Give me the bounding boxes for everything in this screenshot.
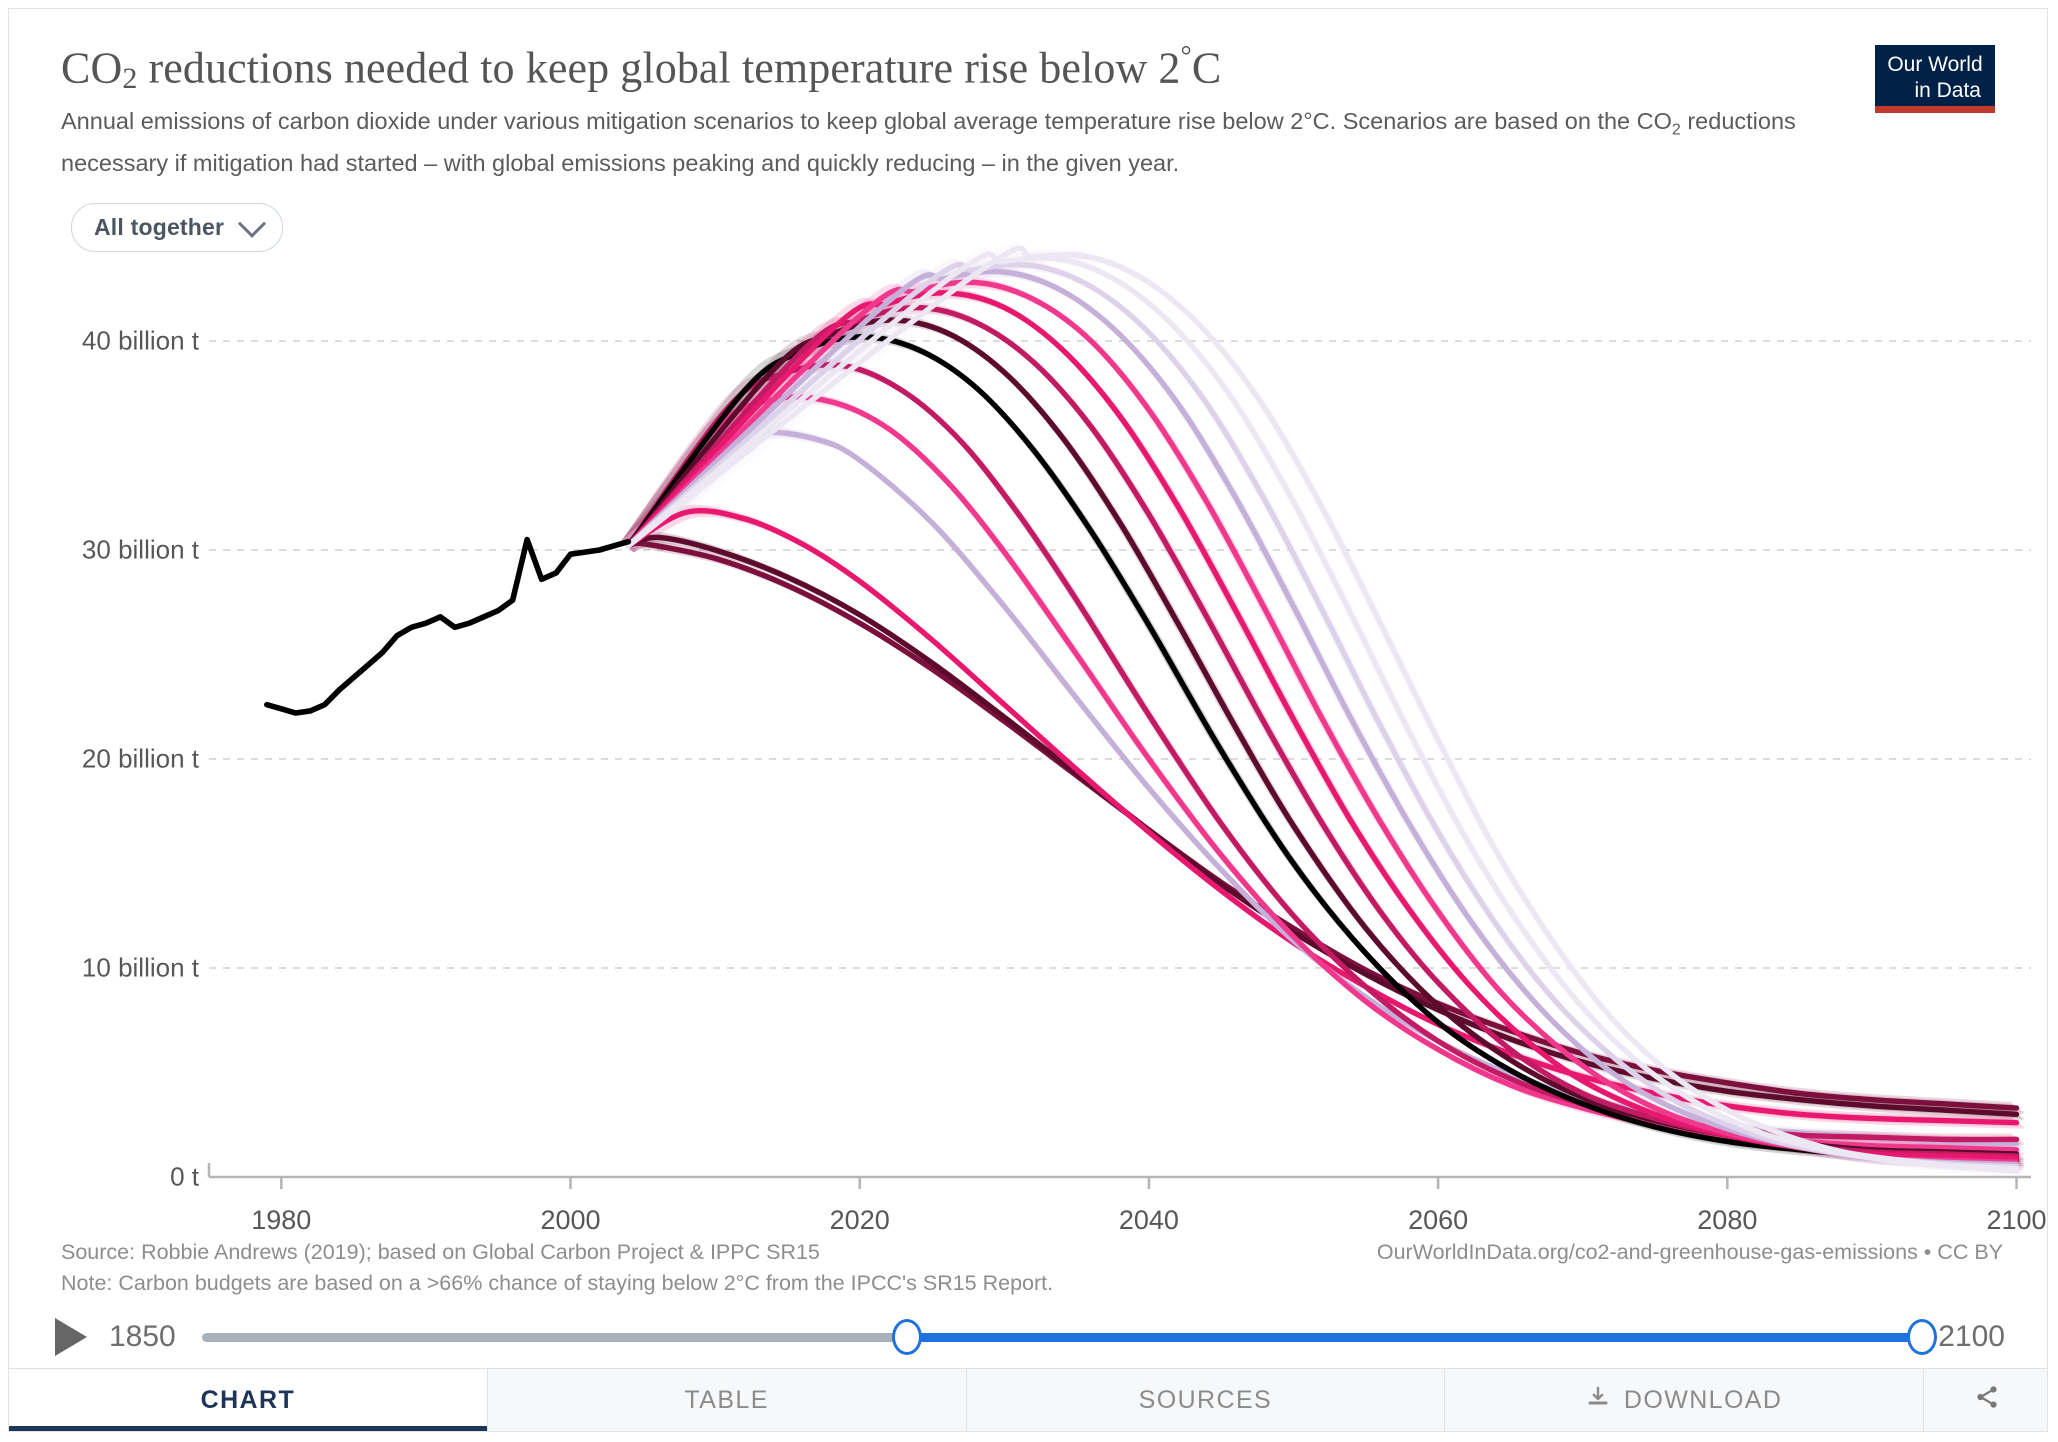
title-degree-symbol: ° xyxy=(1181,41,1192,72)
time-slider: 1850 2100 xyxy=(9,1305,2048,1369)
chart-card: CO2 reductions needed to keep global tem… xyxy=(8,8,2048,1432)
x-axis-tick-label: 2080 xyxy=(1697,1205,1757,1236)
tab-share[interactable] xyxy=(1924,1369,2048,1431)
source-line: Source: Robbie Andrews (2019); based on … xyxy=(61,1237,1053,1268)
scenario-line xyxy=(628,248,2016,1170)
x-axis-tick-label: 2040 xyxy=(1119,1205,1179,1236)
scenario-line xyxy=(628,271,2016,1164)
y-axis-tick-label: 10 billion t xyxy=(82,953,199,984)
tab-sources[interactable]: SOURCES xyxy=(967,1369,1446,1431)
y-axis-tick-label: 40 billion t xyxy=(82,326,199,357)
tab-label: SOURCES xyxy=(1139,1386,1272,1415)
chart-source-note: Source: Robbie Andrews (2019); based on … xyxy=(61,1237,1053,1299)
chart-tab-bar: CHARTTABLESOURCESDOWNLOAD xyxy=(9,1368,2048,1431)
scenario-line xyxy=(628,282,2016,1162)
x-axis-tick-label: 1980 xyxy=(251,1205,311,1236)
play-icon[interactable] xyxy=(55,1318,87,1356)
title-subscript: 2 xyxy=(122,62,137,95)
owid-logo[interactable]: Our World in Data xyxy=(1875,45,1995,113)
y-axis-tick-label: 30 billion t xyxy=(82,535,199,566)
title-text-pre: CO xyxy=(61,44,122,93)
entity-selector-label: All together xyxy=(94,214,224,241)
x-axis-tick-label: 2020 xyxy=(830,1205,890,1236)
x-axis-tick-label: 2060 xyxy=(1408,1205,1468,1236)
slider-fill xyxy=(907,1333,1922,1342)
scenario-line xyxy=(628,293,2016,1158)
scenario-line xyxy=(628,543,2016,1108)
scenario-line xyxy=(628,365,2016,1140)
chart-attribution: OurWorldInData.org/co2-and-greenhouse-ga… xyxy=(1377,1237,2003,1268)
tab-chart[interactable]: CHART xyxy=(9,1369,488,1431)
download-icon xyxy=(1586,1385,1610,1416)
slider-handle-start[interactable] xyxy=(892,1319,922,1355)
scenario-line xyxy=(628,511,2016,1123)
tab-label: DOWNLOAD xyxy=(1624,1386,1782,1415)
scenario-line xyxy=(628,265,2016,1167)
subtitle-subscript: 2 xyxy=(1672,122,1681,139)
historical-line xyxy=(267,540,629,713)
logo-accent-bar xyxy=(1875,106,1995,113)
scenario-line xyxy=(628,320,2016,1154)
x-axis-tick-label: 2000 xyxy=(540,1205,600,1236)
scenario-line xyxy=(628,537,2016,1114)
subtitle-line-1: Annual emissions of carbon dioxide under… xyxy=(61,108,1672,134)
scenario-line xyxy=(628,337,2016,1160)
tab-label: CHART xyxy=(201,1386,296,1415)
entity-selector-button[interactable]: All together xyxy=(71,203,283,252)
logo-line-2: in Data xyxy=(1875,78,1995,104)
y-axis-tick-label: 20 billion t xyxy=(82,744,199,775)
title-text-end: C xyxy=(1192,44,1221,93)
chevron-down-icon xyxy=(238,209,266,237)
scenario-line xyxy=(628,432,2016,1143)
x-axis-tick-label: 2100 xyxy=(1986,1205,2046,1236)
slider-max-year-label: 2100 xyxy=(1938,1320,2005,1354)
note-line: Note: Carbon budgets are based on a >66%… xyxy=(61,1268,1053,1299)
tab-table[interactable]: TABLE xyxy=(488,1369,967,1431)
slider-min-year-label: 1850 xyxy=(109,1320,176,1354)
tab-download[interactable]: DOWNLOAD xyxy=(1445,1369,1924,1431)
title-text-mid: reductions needed to keep global tempera… xyxy=(137,44,1180,93)
share-icon xyxy=(1974,1384,2000,1417)
chart-subtitle: Annual emissions of carbon dioxide under… xyxy=(61,105,1821,180)
slider-handle-end[interactable] xyxy=(1907,1319,1937,1355)
scenario-line xyxy=(628,254,2016,1168)
scenario-line xyxy=(628,308,2016,1157)
page-title: CO2 reductions needed to keep global tem… xyxy=(61,33,1861,100)
tab-label: TABLE xyxy=(684,1386,768,1415)
slider-track[interactable] xyxy=(202,1333,1923,1342)
y-axis-tick-label: 0 t xyxy=(170,1162,199,1193)
logo-line-1: Our World xyxy=(1875,52,1995,78)
scenario-line xyxy=(628,397,2016,1150)
